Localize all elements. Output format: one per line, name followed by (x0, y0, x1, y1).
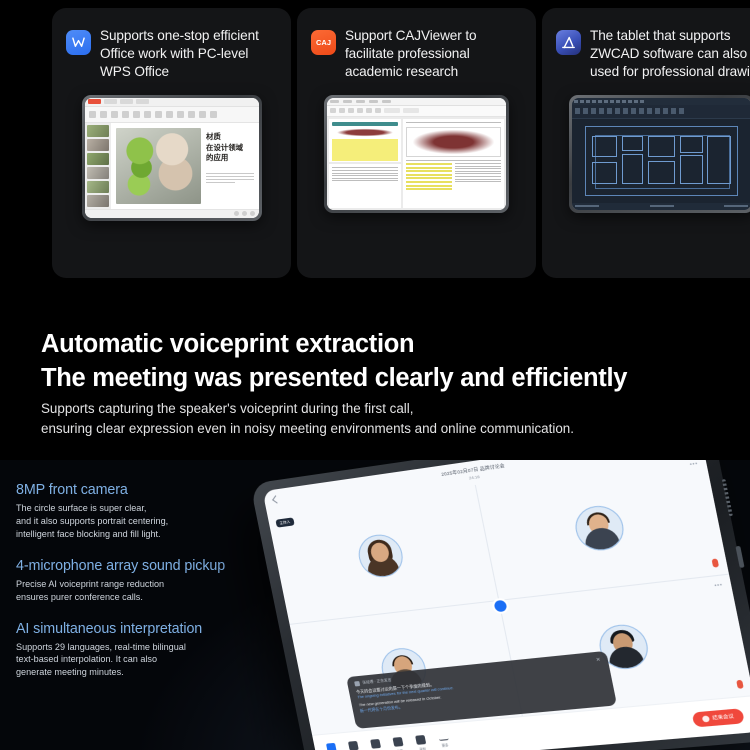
slide-title-line-2: 在设计领域 (206, 143, 253, 154)
more-horizontal-icon (438, 734, 448, 740)
leave-meeting-label: 结束会议 (712, 713, 735, 721)
app-card-wps[interactable]: Supports one-stop efficient Office work … (52, 8, 291, 278)
more-options-icon[interactable]: ••• (714, 582, 724, 589)
feature-body-line: The circle surface is super clear, (16, 503, 146, 513)
microphone-muted-icon (711, 558, 719, 567)
back-arrow-icon[interactable] (272, 495, 280, 503)
caj-menubar (327, 98, 506, 106)
slide-body-lines (206, 173, 253, 183)
feature-body-line: intelligent face blocking and fill light… (16, 529, 161, 539)
cad-workspace (572, 98, 750, 210)
toolbar-label: 更多 (441, 742, 449, 748)
subtext-line-1: Supports capturing the speaker's voicepr… (41, 399, 574, 419)
document-figure (406, 127, 501, 157)
feature-body-line: and it also supports portrait centering, (16, 516, 168, 526)
feature-body-line: generate meeting minutes. (16, 667, 124, 677)
card-header: CAJ Support CAJViewer to facilitate prof… (297, 8, 536, 81)
slide-title-line-3: 的应用 (206, 153, 253, 164)
software-card-row: Supports one-stop efficient Office work … (52, 8, 750, 278)
hangup-icon (701, 715, 709, 722)
caj-tablet-mock (297, 95, 536, 213)
tablet-device: 2025年02月07日 品牌讨论会 24:16 ••• 主持人 ••• (250, 460, 750, 750)
cad-menubar (572, 98, 750, 105)
microphone-icon (348, 740, 359, 750)
toolbar-button-share[interactable]: 共享 (392, 736, 404, 750)
floorplan-outline (585, 126, 739, 197)
feature-body-line: Supports 29 languages, real-time bilingu… (16, 642, 186, 652)
leave-meeting-button[interactable]: 结束会议 (691, 708, 745, 727)
cad-ribbon (572, 105, 750, 119)
host-badge: 主持人 (275, 517, 294, 527)
card-header: The tablet that supports ZWCAD software … (542, 8, 750, 81)
cad-drawing-canvas[interactable] (572, 119, 750, 203)
feature-body-line: ensures purer conference calls. (16, 592, 143, 602)
more-options-icon[interactable]: ••• (689, 461, 699, 469)
headline-section: Automatic voiceprint extraction The meet… (0, 300, 750, 460)
feature-body-line: Precise AI voiceprint range reduction (16, 579, 164, 589)
wps-titlebar (85, 98, 259, 107)
toolbar-button-mic[interactable]: 静音 (348, 740, 360, 750)
speaker-grille (722, 479, 733, 516)
wps-slide-canvas: 材质 在设计领域 的应用 (111, 123, 259, 209)
toolbar-button-record[interactable]: 录制 (415, 734, 428, 750)
app-card-cajviewer[interactable]: CAJ Support CAJViewer to facilitate prof… (297, 8, 536, 278)
headline-line-2: The meeting was presented clearly and ef… (41, 362, 627, 396)
video-camera-icon (326, 742, 337, 750)
wps-slide-thumbnails (85, 123, 111, 209)
caj-toolbar (327, 106, 506, 117)
feature-body-line: text-based interpolation. It can also (16, 654, 157, 664)
app-card-title: Support CAJViewer to facilitate professi… (345, 26, 522, 81)
slide-image (116, 128, 202, 204)
slide-title-line-1: 材质 (206, 132, 253, 143)
headline-subtext: Supports capturing the speaker's voicepr… (41, 399, 574, 439)
headline-line-1: Automatic voiceprint extraction (41, 328, 627, 362)
translate-icon (354, 681, 360, 686)
toolbar-button-participants[interactable]: 成员 (370, 738, 382, 750)
subtext-line-2: ensuring clear expression even in noisy … (41, 419, 574, 439)
record-icon (415, 734, 426, 744)
meeting-timer: 24:16 (468, 473, 480, 480)
participants-icon (370, 738, 381, 748)
meeting-feature-section: 8MP front camera The circle surface is s… (0, 460, 750, 750)
tablet-stage: 2025年02月07日 品牌讨论会 24:16 ••• 主持人 ••• (210, 466, 750, 750)
microphone-muted-icon (736, 680, 744, 689)
toolbar-label: 录制 (419, 746, 427, 750)
app-card-title: The tablet that supports ZWCAD software … (590, 26, 750, 81)
toolbar-button-more[interactable]: 更多 (438, 734, 450, 747)
software-cards-section: Supports one-stop efficient Office work … (0, 0, 750, 300)
app-card-title: Supports one-stop efficient Office work … (100, 26, 277, 81)
cad-statusbar (572, 203, 750, 210)
share-screen-icon (392, 736, 403, 746)
toolbar-button-video[interactable]: 视频 (326, 742, 338, 750)
caj-document-page (403, 119, 504, 208)
avatar (354, 532, 406, 580)
close-icon[interactable]: ✕ (595, 657, 601, 664)
meeting-app-screen: 2025年02月07日 品牌讨论会 24:16 ••• 主持人 ••• (263, 460, 750, 750)
page-title: Automatic voiceprint extraction The meet… (41, 328, 627, 395)
card-header: Supports one-stop efficient Office work … (52, 8, 291, 81)
wps-office-icon (66, 30, 91, 55)
app-card-zwcad[interactable]: The tablet that supports ZWCAD software … (542, 8, 750, 278)
wps-tablet-mock: 材质 在设计领域 的应用 (52, 95, 291, 221)
caj-page-thumbnails (329, 119, 401, 208)
zwcad-icon (556, 30, 581, 55)
cajviewer-icon: CAJ (311, 30, 336, 55)
volume-button[interactable] (735, 546, 744, 568)
wps-ribbon (85, 107, 259, 123)
avatar (571, 503, 627, 553)
zwcad-tablet-mock (542, 95, 750, 213)
caption-speaker: 张经理 · 正在发言 (362, 678, 392, 686)
wps-statusbar (85, 209, 259, 218)
